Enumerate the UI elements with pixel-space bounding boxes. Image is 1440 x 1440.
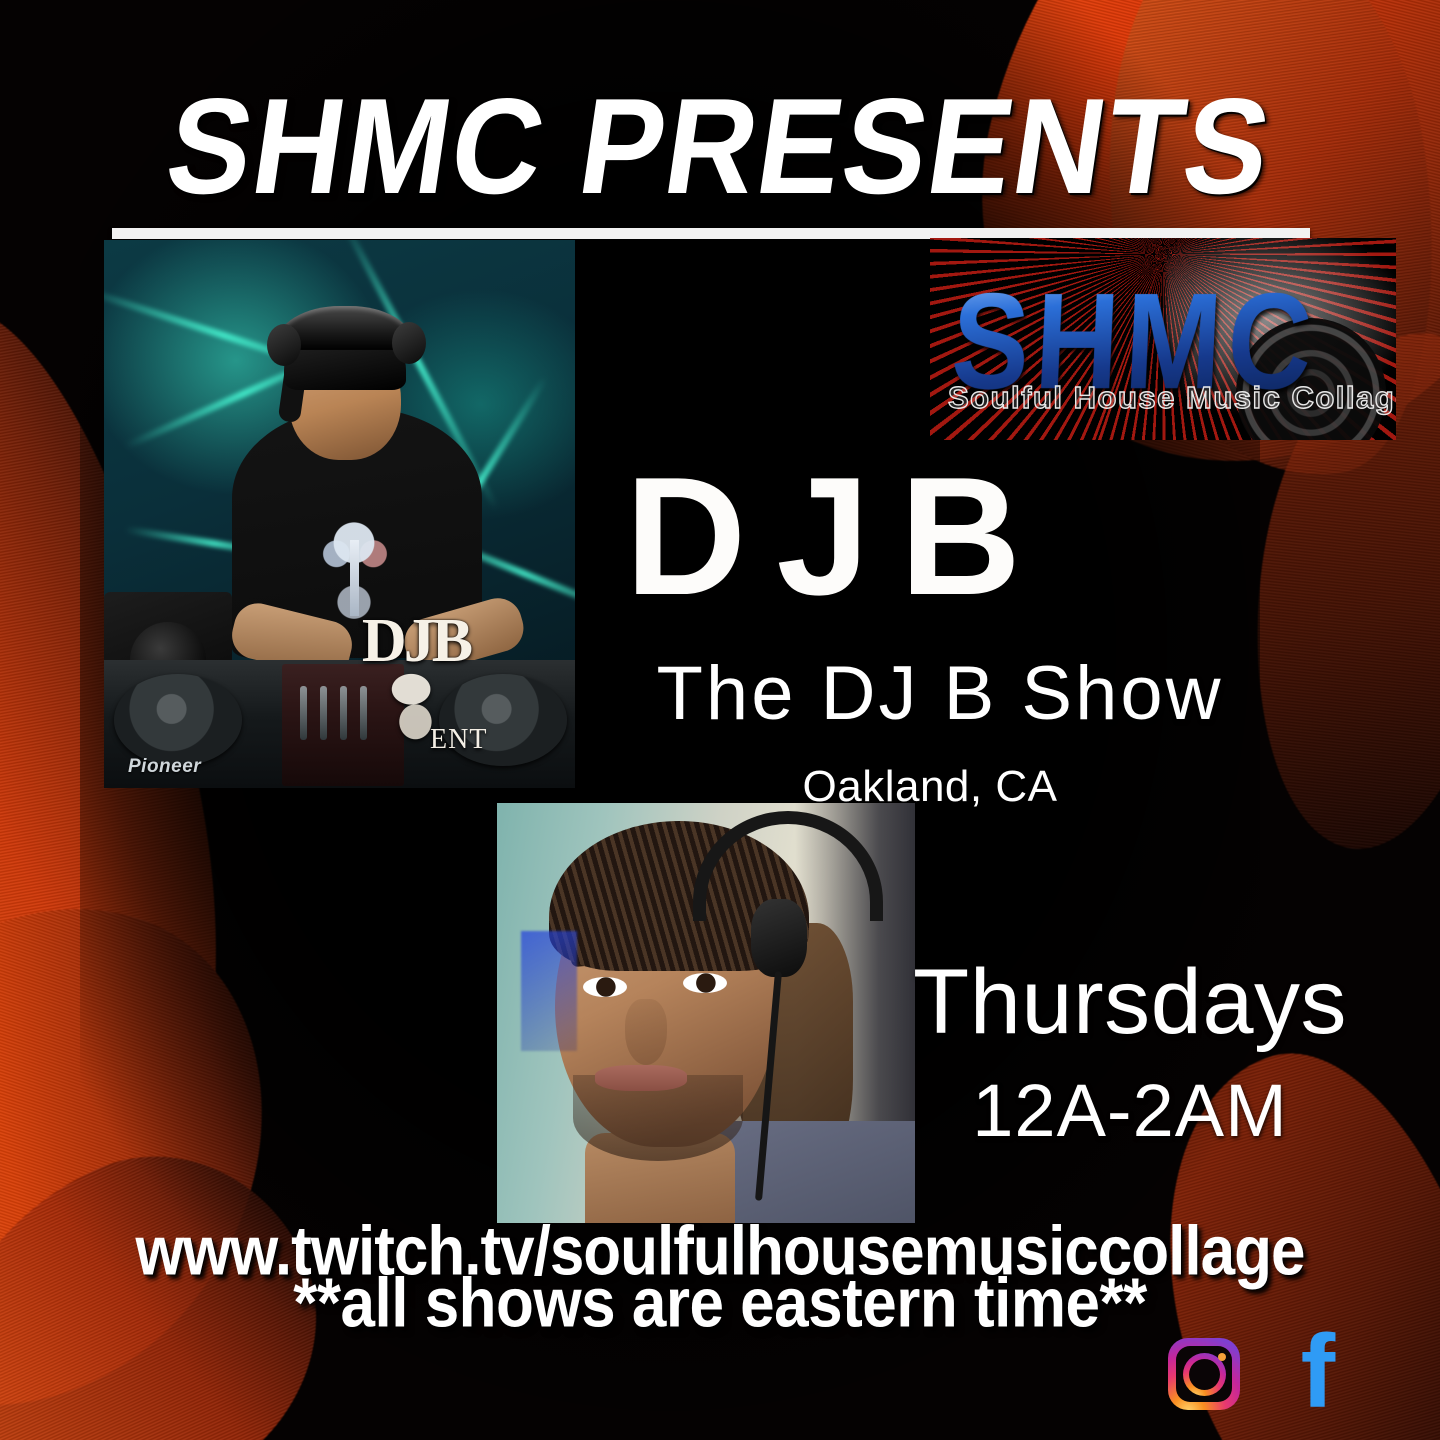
pioneer-brand-label: Pioneer [128, 756, 201, 778]
timezone-note: **all shows are eastern time** [0, 1264, 1440, 1344]
portrait-nose [625, 999, 667, 1065]
headline-container: SHMC PRESENTS [0, 78, 1440, 214]
dj-performance-photo: Pioneer DJB ENT [104, 240, 575, 788]
portrait-blue-glitch [521, 931, 577, 1051]
portrait-eye [583, 977, 627, 997]
channel-fader [300, 686, 307, 740]
channel-fader [340, 686, 347, 740]
shmc-logo-subtitle: Soulful House Music Collage [948, 380, 1378, 416]
dj-name-letters: DJB [625, 452, 1185, 612]
facebook-icon[interactable]: f [1286, 1330, 1350, 1416]
channel-fader [360, 686, 367, 740]
channel-fader [320, 686, 327, 740]
schedule-time: 12A-2AM [900, 1068, 1360, 1153]
headphone-cup-right [392, 322, 426, 364]
headphone-cup-left [267, 324, 301, 366]
portrait-headphone-cup [751, 899, 807, 977]
dj-mixer-console: Pioneer [104, 660, 575, 788]
oakland-tree-trunk [350, 540, 359, 616]
portrait-eye [683, 973, 727, 993]
schedule-day: Thursdays [900, 950, 1360, 1055]
promo-flyer: SHMC PRESENTS Pioneer [0, 0, 1440, 1440]
dj-portrait-photo [497, 803, 915, 1223]
show-title: The DJ B Show [600, 650, 1280, 737]
cdj-platter-left [114, 674, 242, 766]
cdj-platter-right [439, 674, 567, 766]
page-title: SHMC PRESENTS [159, 78, 1280, 214]
portrait-mouth [595, 1065, 687, 1091]
instagram-icon[interactable] [1168, 1338, 1240, 1410]
shmc-logo: SHMC Soulful House Music Collage [930, 238, 1396, 440]
instagram-flash-dot [1218, 1353, 1226, 1361]
